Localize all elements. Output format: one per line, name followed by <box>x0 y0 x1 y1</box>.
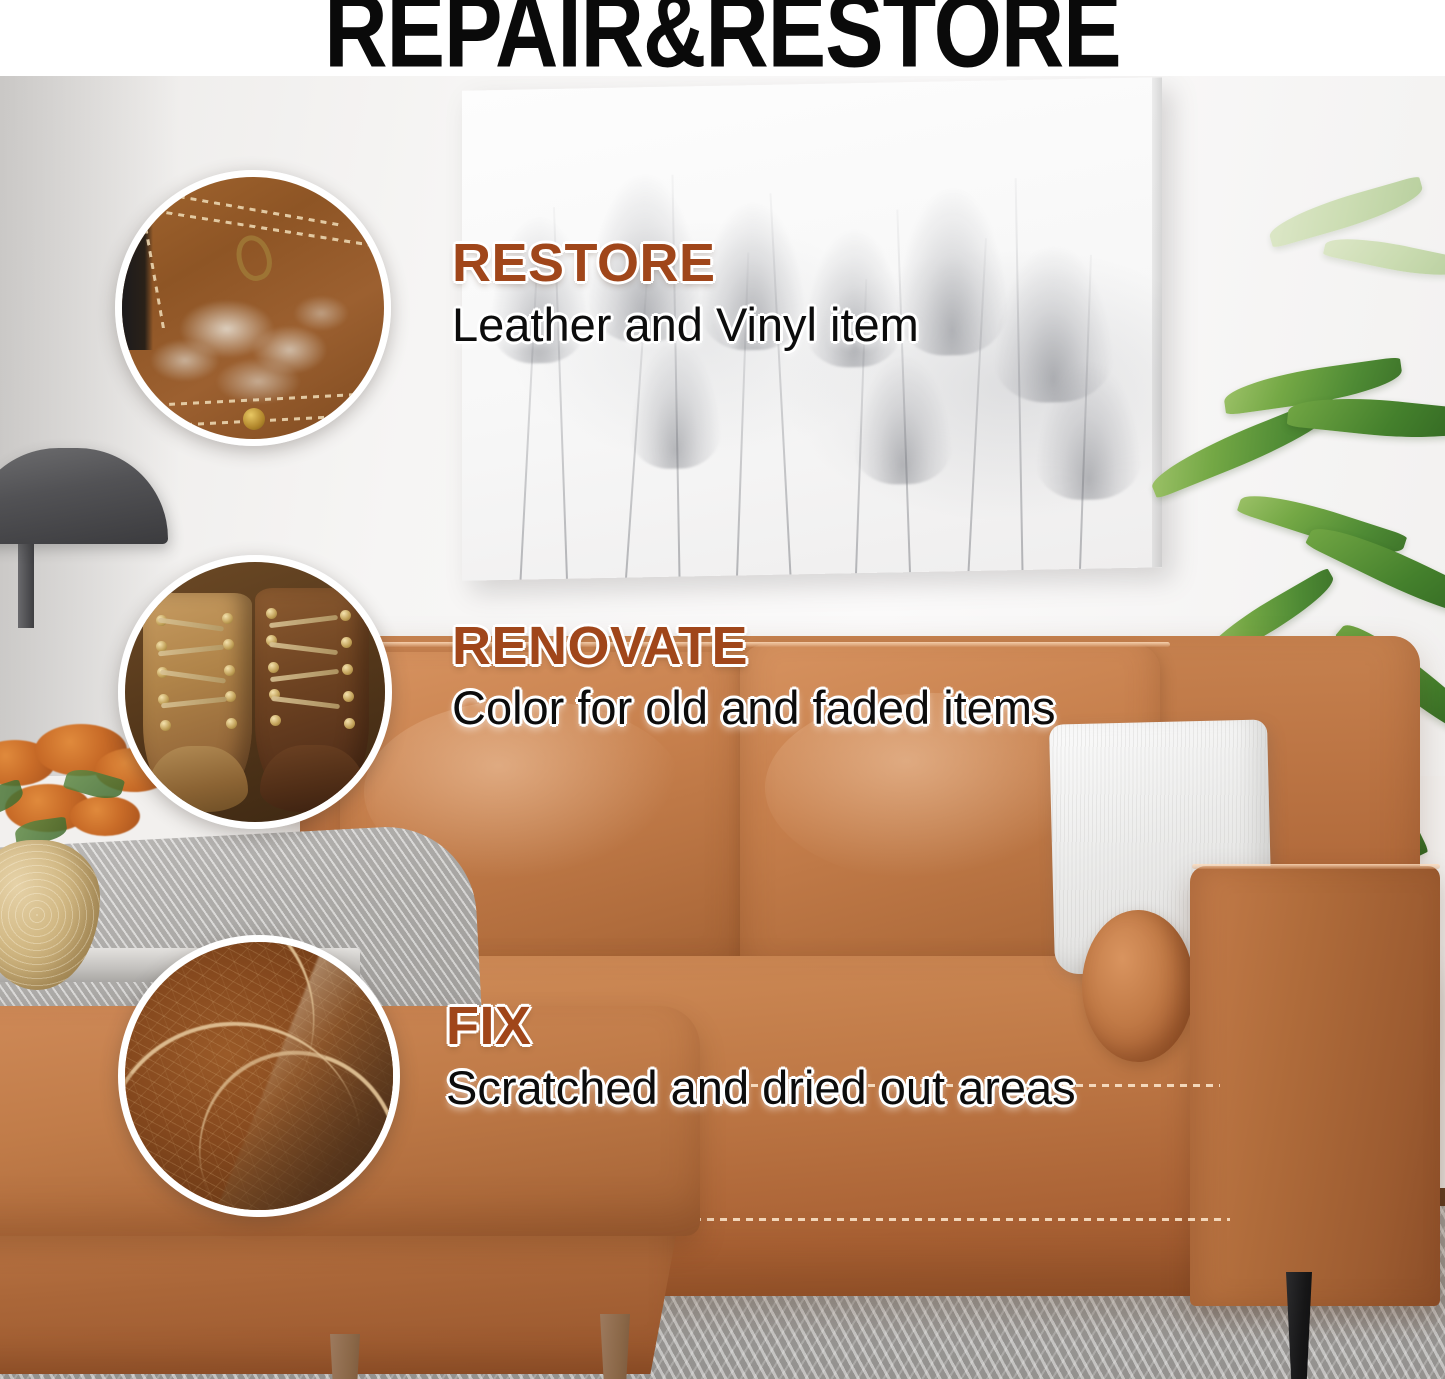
page-title: REPAIR&RESTORE <box>324 0 1120 83</box>
feature-subline: Leather and Vinyl item <box>452 300 919 349</box>
mold-damaged-leather-bag-photo <box>122 177 384 439</box>
arm-piping <box>1192 864 1440 869</box>
leather-bolster-pillow <box>1082 910 1194 1062</box>
feature-block-fix: FIX Scratched and dried out areas <box>446 999 1076 1112</box>
inset-circle-fix <box>118 935 400 1217</box>
inset-circle-restore <box>115 170 391 446</box>
inset-circle-renovate <box>118 555 392 829</box>
boot-faded <box>143 593 252 811</box>
scratched-leather-surface-photo <box>125 942 393 1210</box>
feature-block-renovate: RENOVATE Color for old and faded items <box>452 619 1056 732</box>
boot-restored <box>255 588 369 812</box>
ottoman-leg-left <box>330 1334 360 1379</box>
floor-lamp-stem <box>18 538 34 628</box>
product-feature-image: RESTORE Leather and Vinyl item RENOVATE … <box>0 0 1445 1379</box>
feature-headline: FIX <box>446 999 1076 1054</box>
worn-leather-boots-photo <box>125 562 385 822</box>
feature-subline: Color for old and faded items <box>452 683 1056 732</box>
feature-subline: Scratched and dried out areas <box>446 1063 1076 1112</box>
page-title-bar: REPAIR&RESTORE <box>0 0 1445 76</box>
bag-rivet-icon <box>243 408 265 430</box>
ottoman-leg-right <box>600 1314 630 1379</box>
sofa-right-arm <box>1190 866 1440 1306</box>
feature-block-restore: RESTORE Leather and Vinyl item <box>452 236 919 349</box>
feature-headline: RENOVATE <box>452 619 1056 674</box>
feature-headline: RESTORE <box>452 236 919 291</box>
living-room-scene: RESTORE Leather and Vinyl item RENOVATE … <box>0 76 1445 1379</box>
